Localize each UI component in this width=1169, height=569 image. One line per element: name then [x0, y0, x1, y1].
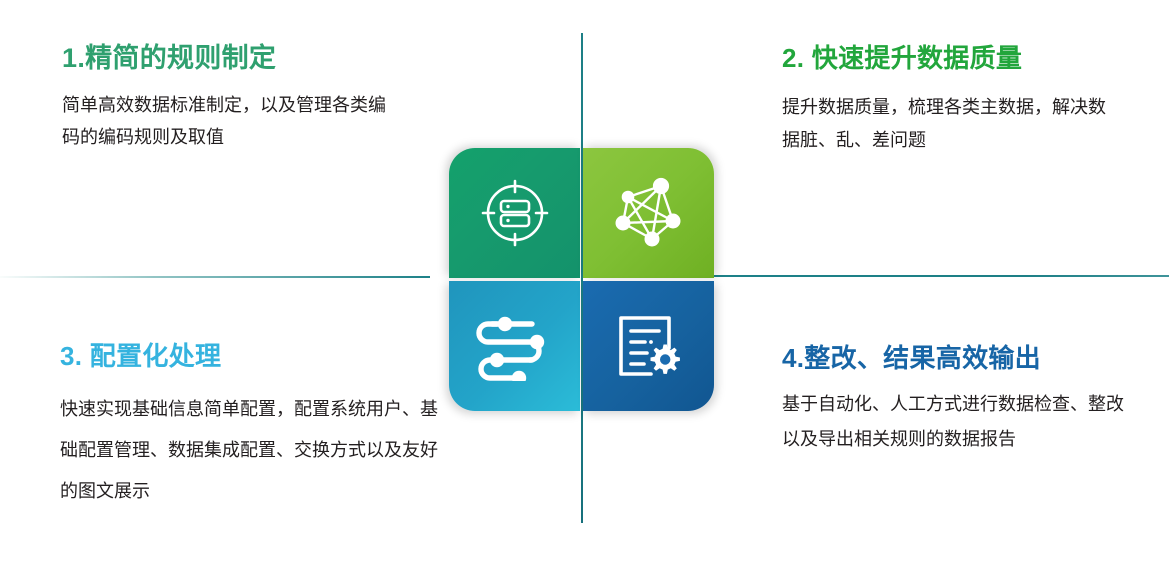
quadrant-1-body: 简单高效数据标准制定，以及管理各类编码的编码规则及取值 [62, 89, 402, 153]
quadrant-4: 4.整改、结果高效输出 基于自动化、人工方式进行数据检查、整改以及导出相关规则的… [782, 338, 1134, 457]
divider-horizontal-right [690, 275, 1169, 277]
quadrant-2: 2. 快速提升数据质量 提升数据质量，梳理各类主数据，解决数据脏、乱、差问题 [782, 38, 1112, 157]
document-gear-icon [611, 308, 687, 384]
quadrant-1-title: 1.精简的规则制定 [62, 36, 402, 75]
quadrant-3: 3. 配置化处理 快速实现基础信息简单配置，配置系统用户、基础配置管理、数据集成… [60, 336, 440, 512]
icon-tile-2[interactable] [583, 148, 714, 278]
workflow-path-icon [475, 311, 555, 381]
divider-horizontal-left [0, 276, 430, 278]
quadrant-2-body: 提升数据质量，梳理各类主数据，解决数据脏、乱、差问题 [782, 91, 1112, 157]
network-graph-icon [611, 175, 687, 251]
quadrant-1: 1.精简的规则制定 简单高效数据标准制定，以及管理各类编码的编码规则及取值 [62, 36, 402, 153]
quadrant-2-title: 2. 快速提升数据质量 [782, 38, 1112, 75]
quadrant-3-title: 3. 配置化处理 [60, 336, 440, 373]
quadrant-4-body: 基于自动化、人工方式进行数据检查、整改以及导出相关规则的数据报告 [782, 387, 1134, 457]
target-database-icon [477, 175, 553, 251]
icon-tile-4[interactable] [583, 281, 714, 411]
icon-tile-3[interactable] [449, 281, 580, 411]
quadrant-3-body: 快速实现基础信息简单配置，配置系统用户、基础配置管理、数据集成配置、交换方式以及… [60, 389, 440, 512]
center-icon-cluster [449, 148, 717, 413]
icon-tile-1[interactable] [449, 148, 580, 278]
quadrant-4-title: 4.整改、结果高效输出 [782, 338, 1134, 375]
